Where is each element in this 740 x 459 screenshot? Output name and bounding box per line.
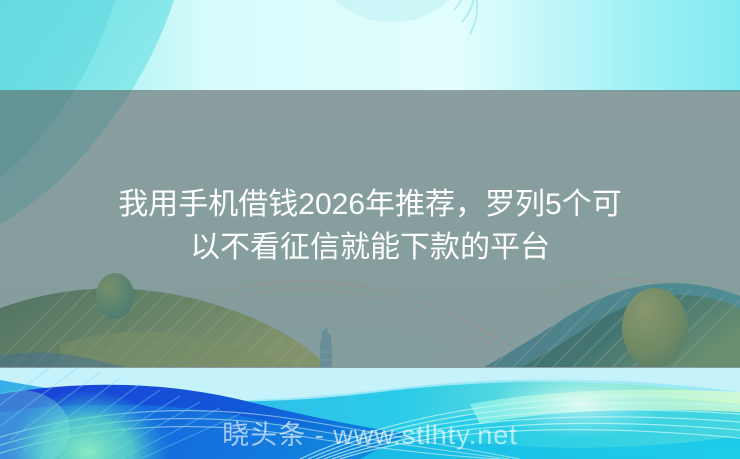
promo-banner: 我用手机借钱2026年推荐，罗列5个可 以不看征信就能下款的平台 晓头条 - w… — [0, 0, 740, 459]
background-illustration — [0, 0, 740, 459]
